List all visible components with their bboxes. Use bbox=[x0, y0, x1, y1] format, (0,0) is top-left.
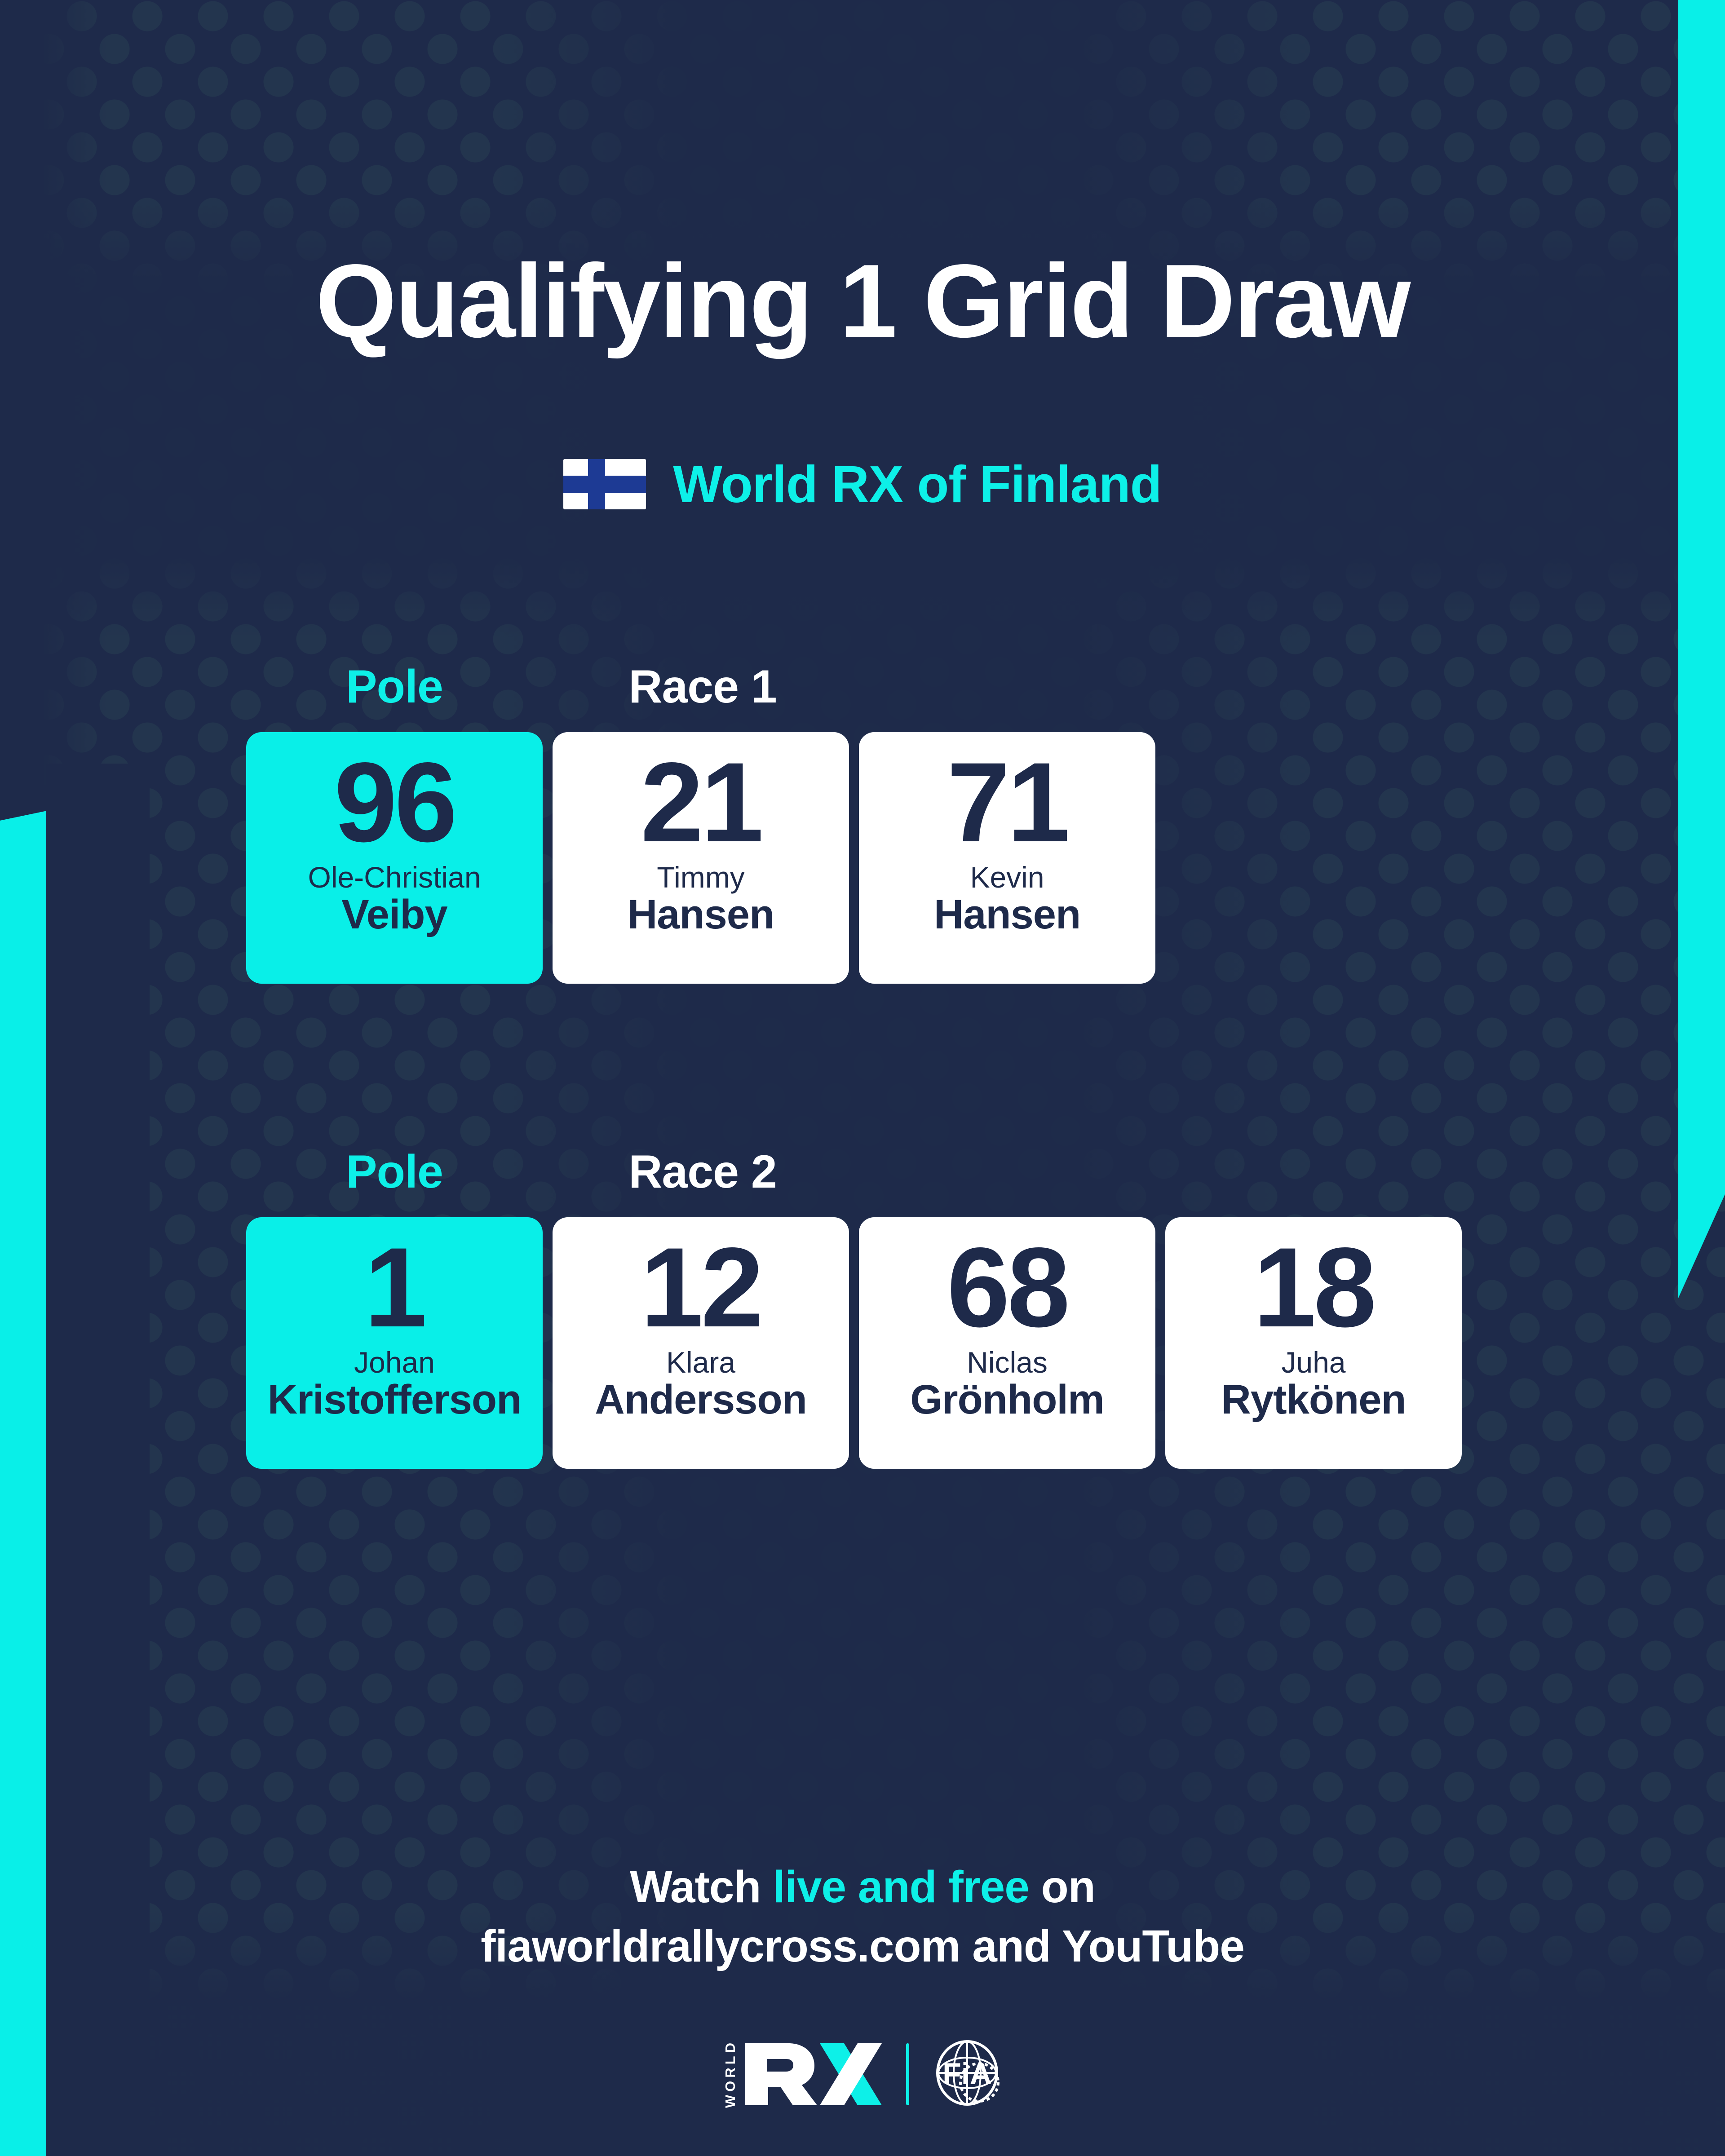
driver-first-name: Niclas bbox=[967, 1347, 1048, 1378]
driver-number: 21 bbox=[641, 745, 761, 860]
race-2-grid: 1 Johan Kristofferson 12 Klara Andersson… bbox=[246, 1217, 1462, 1469]
finland-flag-icon bbox=[563, 459, 646, 509]
watch-promo-line-2: fiaworldrallycross.com and YouTube bbox=[0, 1917, 1725, 1976]
race-group-1: Pole Race 1 96 Ole-Christian Veiby 21 Ti… bbox=[0, 660, 1725, 732]
page-title: Qualifying 1 Grid Draw bbox=[0, 249, 1725, 353]
driver-number: 71 bbox=[947, 745, 1067, 860]
driver-last-name: Rytkönen bbox=[1221, 1378, 1406, 1422]
fia-svg: FiA bbox=[933, 2039, 1002, 2107]
driver-card[interactable]: 96 Ole-Christian Veiby bbox=[246, 732, 543, 984]
driver-card[interactable]: 21 Timmy Hansen bbox=[553, 732, 849, 984]
driver-first-name: Ole-Christian bbox=[308, 862, 481, 893]
logo-bar: WORLD FiA bbox=[0, 2039, 1725, 2109]
driver-last-name: Veiby bbox=[341, 893, 447, 937]
world-rx-wordmark: WORLD bbox=[723, 2040, 737, 2108]
poster-canvas: Qualifying 1 Grid Draw World RX of Finla… bbox=[0, 0, 1725, 2156]
driver-last-name: Grönholm bbox=[910, 1378, 1104, 1422]
driver-first-name: Klara bbox=[666, 1347, 735, 1378]
svg-text:FiA: FiA bbox=[942, 2057, 992, 2091]
race-label: Race 2 bbox=[554, 1145, 851, 1199]
driver-last-name: Hansen bbox=[628, 893, 774, 937]
watch-promo-line-1: Watch live and free on bbox=[0, 1857, 1725, 1917]
driver-number: 18 bbox=[1253, 1230, 1374, 1345]
driver-card[interactable]: 71 Kevin Hansen bbox=[859, 732, 1155, 984]
rx-svg bbox=[743, 2041, 883, 2108]
driver-card[interactable]: 68 Niclas Grönholm bbox=[859, 1217, 1155, 1469]
driver-card[interactable]: 1 Johan Kristofferson bbox=[246, 1217, 543, 1469]
driver-number: 1 bbox=[364, 1230, 425, 1345]
driver-number: 12 bbox=[641, 1230, 761, 1345]
watch-text-highlight: live and free bbox=[773, 1862, 1029, 1912]
pole-label: Pole bbox=[246, 660, 543, 714]
logo-divider bbox=[906, 2043, 909, 2105]
event-name: World RX of Finland bbox=[673, 458, 1161, 510]
race-1-grid: 96 Ole-Christian Veiby 21 Timmy Hansen 7… bbox=[246, 732, 1155, 984]
watch-text-pre: Watch bbox=[630, 1862, 773, 1912]
driver-last-name: Andersson bbox=[595, 1378, 807, 1422]
race-1-labels: Pole Race 1 bbox=[0, 660, 1725, 732]
world-rx-logo-icon: WORLD bbox=[723, 2041, 883, 2108]
driver-first-name: Timmy bbox=[657, 862, 745, 893]
fia-logo-icon: FiA bbox=[933, 2039, 1002, 2109]
watch-promo: Watch live and free on fiaworldrallycros… bbox=[0, 1857, 1725, 1976]
race-group-2: Pole Race 2 1 Johan Kristofferson 12 Kla… bbox=[0, 1145, 1725, 1217]
driver-last-name: Kristofferson bbox=[268, 1378, 522, 1422]
driver-number: 96 bbox=[334, 745, 455, 860]
driver-number: 68 bbox=[947, 1230, 1067, 1345]
race-2-labels: Pole Race 2 bbox=[0, 1145, 1725, 1217]
event-subtitle: World RX of Finland bbox=[0, 458, 1725, 510]
watch-text-post: on bbox=[1029, 1862, 1095, 1912]
driver-card[interactable]: 18 Juha Rytkönen bbox=[1165, 1217, 1462, 1469]
pole-label: Pole bbox=[246, 1145, 543, 1199]
driver-last-name: Hansen bbox=[934, 893, 1080, 937]
driver-first-name: Kevin bbox=[970, 862, 1044, 893]
driver-first-name: Juha bbox=[1281, 1347, 1345, 1378]
race-label: Race 1 bbox=[554, 660, 851, 714]
driver-first-name: Johan bbox=[354, 1347, 435, 1378]
rx-mark-icon bbox=[743, 2041, 883, 2108]
driver-card[interactable]: 12 Klara Andersson bbox=[553, 1217, 849, 1469]
